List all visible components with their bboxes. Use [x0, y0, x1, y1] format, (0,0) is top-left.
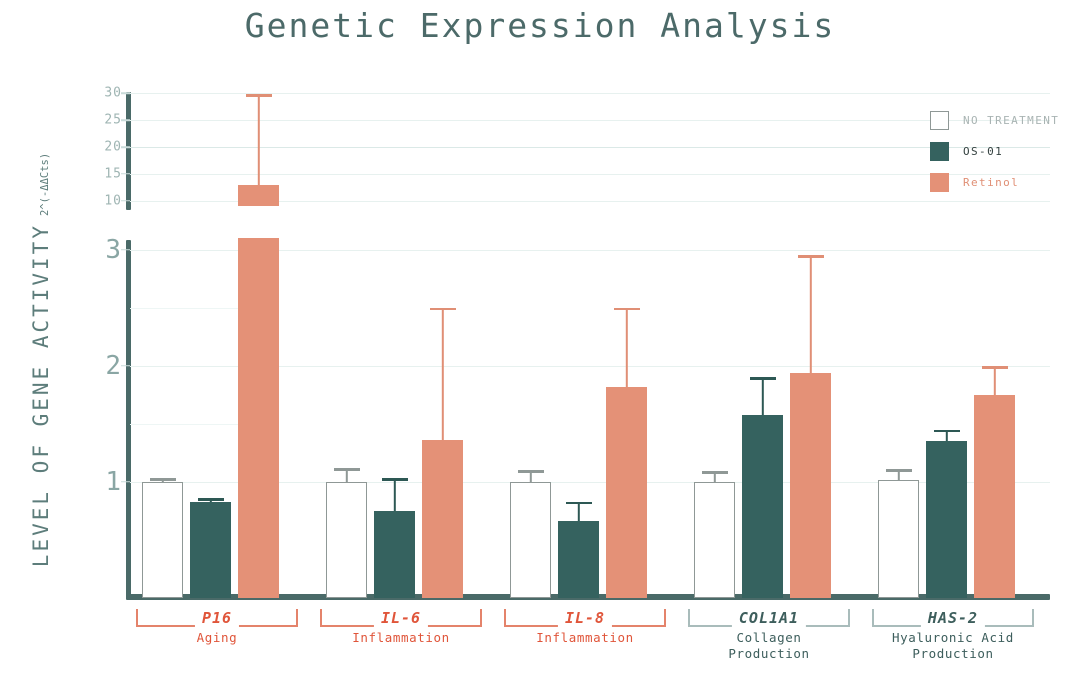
group-bracket: IL-8 [504, 606, 666, 628]
chart-panel-upper: 1015202530 [130, 88, 1050, 206]
bracket-tick-right [1032, 609, 1034, 627]
error-bar-upper [238, 94, 279, 184]
gene-name: HAS-2 [921, 609, 985, 627]
bar [558, 521, 599, 598]
error-bar [606, 308, 647, 387]
error-bar-cap [150, 478, 176, 481]
bar [878, 480, 919, 598]
error-bar [142, 478, 183, 481]
bar [926, 441, 967, 598]
gene-function: Inflammation [504, 630, 666, 646]
y-axis-label: LEVEL OF GENE ACTIVITY 2^(-ΔΔCts) [18, 170, 64, 550]
bar [374, 511, 415, 598]
y-tick-mark-lower [121, 249, 130, 251]
y-tick-mark-upper [121, 93, 130, 95]
gridline-minor-lower [130, 308, 250, 309]
error-bar [326, 468, 367, 482]
y-tick-label-upper: 10 [104, 193, 122, 208]
error-bar-cap [518, 470, 544, 473]
y-tick-label-lower: 2 [105, 351, 122, 381]
error-bar-cap [886, 469, 912, 472]
legend-swatch-icon [930, 142, 949, 161]
bracket-tick-right [664, 609, 666, 627]
bracket-tick-left [504, 609, 506, 627]
error-bar-stem [809, 255, 811, 372]
bar [326, 482, 367, 598]
group-label: HAS-2Hyaluronic AcidProduction [872, 606, 1034, 662]
error-bar-cap [198, 498, 224, 501]
error-bar [374, 478, 415, 511]
error-bar [742, 377, 783, 414]
legend-item-label: OS-01 [963, 145, 1003, 158]
y-tick-mark-upper [121, 200, 130, 202]
bar [238, 238, 279, 598]
y-tick-label-upper: 15 [104, 166, 122, 181]
y-tick-mark-lower [121, 365, 130, 367]
bracket-tick-right [848, 609, 850, 627]
bar [694, 482, 735, 598]
error-bar-stem [761, 377, 763, 414]
legend-swatch-icon [930, 173, 949, 192]
group-bracket: COL1A1 [688, 606, 850, 628]
y-tick-mark-upper [121, 146, 130, 148]
error-bar-cap [246, 94, 272, 97]
legend-item-label: Retinol [963, 176, 1019, 189]
bracket-tick-left [320, 609, 322, 627]
gridline-minor-lower [130, 424, 250, 425]
error-bar-stem [577, 502, 579, 522]
gene-name: IL-8 [558, 609, 612, 627]
group-label: COL1A1CollagenProduction [688, 606, 850, 662]
error-bar-cap [430, 308, 456, 311]
error-bar [190, 498, 231, 501]
chart-legend: NO TREATMENTOS-01Retinol [930, 105, 1059, 198]
error-bar-stem [257, 94, 259, 184]
legend-item[interactable]: Retinol [930, 167, 1059, 198]
y-tick-label-lower: 3 [105, 235, 122, 265]
error-bar [790, 255, 831, 372]
y-tick-label-upper: 25 [104, 113, 122, 128]
gene-name: COL1A1 [732, 609, 806, 627]
page-title: Genetic Expression Analysis [0, 6, 1080, 45]
legend-item[interactable]: NO TREATMENT [930, 105, 1059, 136]
error-bar-stem [393, 478, 395, 511]
gene-function: CollagenProduction [688, 630, 850, 662]
error-bar [694, 471, 735, 481]
error-bar-cap [702, 471, 728, 474]
error-bar-cap [614, 308, 640, 311]
error-bar-stem [993, 366, 995, 395]
bar [190, 502, 231, 598]
group-label: P16Aging [136, 606, 298, 646]
bar [742, 415, 783, 598]
legend-item[interactable]: OS-01 [930, 136, 1059, 167]
error-bar [926, 430, 967, 442]
y-tick-mark-lower [121, 481, 130, 483]
error-bar [878, 469, 919, 479]
error-bar-cap [566, 502, 592, 505]
bar-upper-segment [238, 185, 279, 206]
group-bracket: IL-6 [320, 606, 482, 628]
gene-function: Inflammation [320, 630, 482, 646]
chart-panel-lower: 123 [130, 238, 1050, 598]
error-bar-stem [625, 308, 627, 387]
y-tick-mark-upper [121, 119, 130, 121]
legend-item-label: NO TREATMENT [963, 114, 1059, 127]
bar [422, 440, 463, 598]
bar [510, 482, 551, 598]
bracket-tick-right [480, 609, 482, 627]
error-bar-stem [441, 308, 443, 440]
group-bracket: P16 [136, 606, 298, 628]
error-bar-cap [982, 366, 1008, 369]
bar [142, 482, 183, 598]
error-bar-cap [750, 377, 776, 380]
gene-function: Hyaluronic AcidProduction [872, 630, 1034, 662]
legend-swatch-icon [930, 111, 949, 130]
group-label: IL-6Inflammation [320, 606, 482, 646]
bracket-tick-right [296, 609, 298, 627]
error-bar [558, 502, 599, 522]
y-tick-label-lower: 1 [105, 467, 122, 497]
group-bracket: HAS-2 [872, 606, 1034, 628]
y-tick-mark-upper [121, 173, 130, 175]
bar [790, 373, 831, 598]
y-axis-label-main: LEVEL OF GENE ACTIVITY [29, 223, 53, 567]
error-bar-cap [334, 468, 360, 471]
gene-name: P16 [195, 609, 239, 627]
error-bar-cap [798, 255, 824, 258]
error-bar [974, 366, 1015, 395]
bracket-tick-left [872, 609, 874, 627]
gene-name: IL-6 [374, 609, 428, 627]
bar [974, 395, 1015, 598]
error-bar-cap [934, 430, 960, 433]
y-tick-label-upper: 20 [104, 140, 122, 155]
error-bar [422, 308, 463, 440]
bracket-tick-left [136, 609, 138, 627]
bar [606, 387, 647, 598]
y-axis-label-sub: 2^(-ΔΔCts) [39, 153, 51, 216]
y-tick-label-upper: 30 [104, 86, 122, 101]
bracket-tick-left [688, 609, 690, 627]
group-label: IL-8Inflammation [504, 606, 666, 646]
error-bar-cap [382, 478, 408, 481]
error-bar [510, 470, 551, 482]
gene-function: Aging [136, 630, 298, 646]
